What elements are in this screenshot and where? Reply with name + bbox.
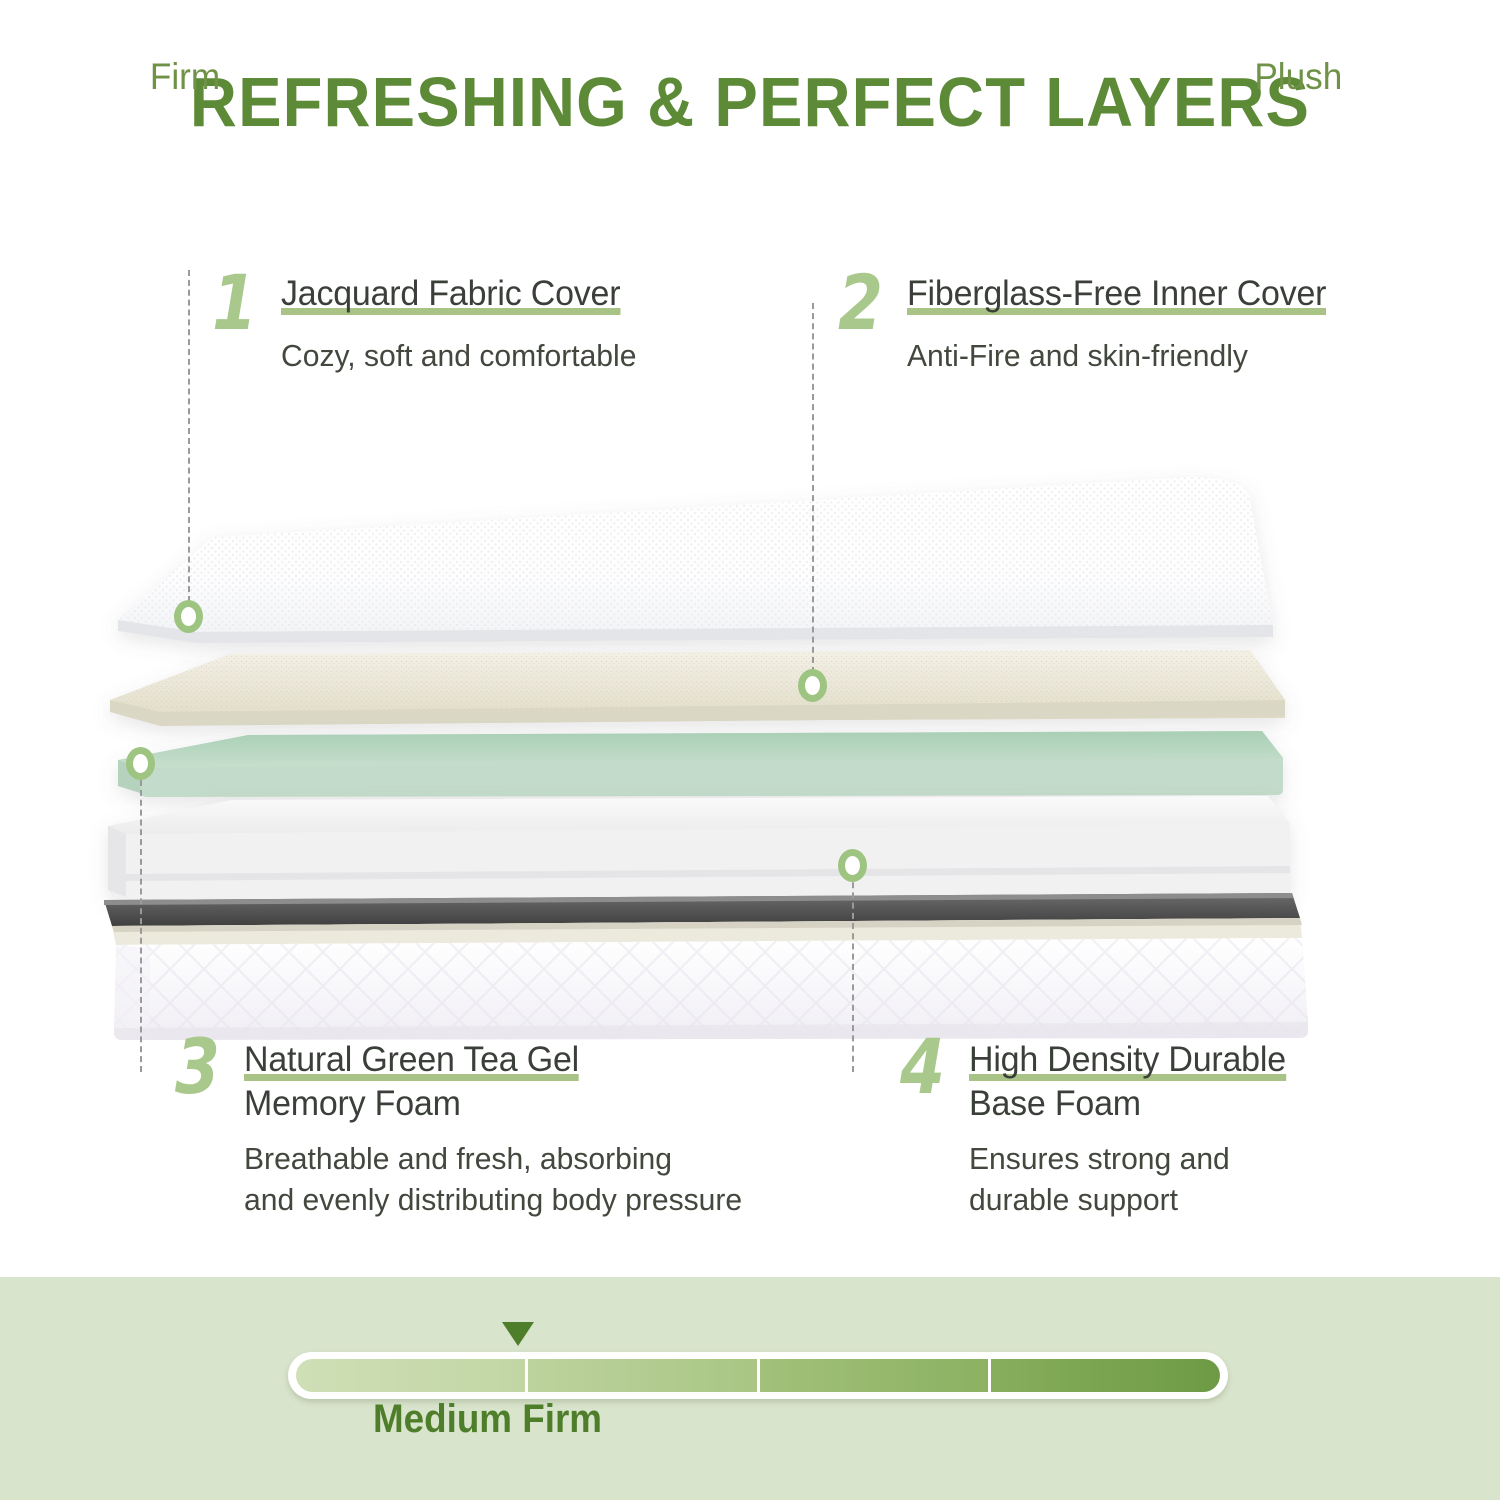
firmness-segment-1[interactable]	[296, 1359, 528, 1392]
callout-title-1: Jacquard Fabric Cover	[281, 272, 757, 316]
callout-number-4: 4	[900, 1038, 945, 1096]
layer-high-density-base-foam	[108, 796, 1290, 900]
callout-number-1: 1	[212, 272, 257, 334]
layer-green-tea-gel-memory-foam	[118, 731, 1283, 797]
callout-2: 2 Fiberglass-Free Inner Cover Anti-Fire …	[838, 272, 1458, 376]
layer-marker-ring-3	[126, 747, 155, 780]
layer-jacquard-fabric-cover	[118, 477, 1273, 643]
callout-subtitle-4-line2: durable support	[969, 1182, 1178, 1217]
callout-number-2: 2	[838, 272, 883, 334]
firmness-segment-3[interactable]	[760, 1359, 992, 1392]
callout-title-3: Natural Green Tea Gel Memory Foam	[244, 1038, 876, 1126]
callout-title-4-line1: High Density Durable	[969, 1040, 1286, 1081]
callout-title-2: Fiberglass-Free Inner Cover	[907, 272, 1442, 316]
infographic-page: REFRESHING & PERFECT LAYERS	[0, 0, 1500, 1500]
firmness-segment-4[interactable]	[991, 1359, 1220, 1392]
layer-marker-ring-2	[798, 669, 827, 702]
firmness-selected-label: Medium Firm	[373, 1397, 602, 1442]
callout-title-3-line1: Natural Green Tea Gel	[244, 1040, 579, 1081]
callout-subtitle-4: Ensures strong and durable support	[969, 1138, 1407, 1220]
callout-4: 4 High Density Durable Base Foam Ensures…	[900, 1038, 1420, 1220]
firmness-label-plush: Plush	[1254, 56, 1342, 98]
callout-title-1-text: Jacquard Fabric Cover	[281, 274, 620, 315]
layer-marker-ring-4	[838, 849, 867, 882]
callout-subtitle-1: Cozy, soft and comfortable	[281, 335, 757, 376]
callout-subtitle-3-line2: and evenly distributing body pressure	[244, 1182, 742, 1217]
callout-1: 1 Jacquard Fabric Cover Cozy, soft and c…	[212, 272, 772, 376]
callout-title-4: High Density Durable Base Foam	[969, 1038, 1407, 1126]
firmness-label-firm: Firm	[150, 56, 220, 98]
callout-subtitle-2: Anti-Fire and skin-friendly	[907, 335, 1442, 376]
leader-line-2	[812, 303, 814, 673]
callout-title-3-line2: Memory Foam	[244, 1084, 461, 1123]
callout-title-4-line2: Base Foam	[969, 1084, 1141, 1123]
firmness-scale-bar[interactable]	[288, 1352, 1228, 1399]
layer-marker-ring-1	[174, 600, 203, 633]
callout-subtitle-3: Breathable and fresh, absorbing and even…	[244, 1138, 876, 1220]
leader-line-3	[140, 780, 142, 1072]
callout-subtitle-4-line1: Ensures strong and	[969, 1141, 1230, 1176]
callout-number-3: 3	[175, 1038, 220, 1096]
layer-mattress-base-cover	[104, 893, 1308, 1040]
leader-line-1	[188, 270, 190, 602]
callout-title-2-text: Fiberglass-Free Inner Cover	[907, 274, 1326, 315]
firmness-segment-2[interactable]	[528, 1359, 760, 1392]
callout-subtitle-3-line1: Breathable and fresh, absorbing	[244, 1141, 672, 1176]
layer-fiberglass-free-inner-cover	[110, 650, 1285, 726]
callout-3: 3 Natural Green Tea Gel Memory Foam Brea…	[175, 1038, 895, 1220]
firmness-pointer-icon	[502, 1322, 534, 1346]
